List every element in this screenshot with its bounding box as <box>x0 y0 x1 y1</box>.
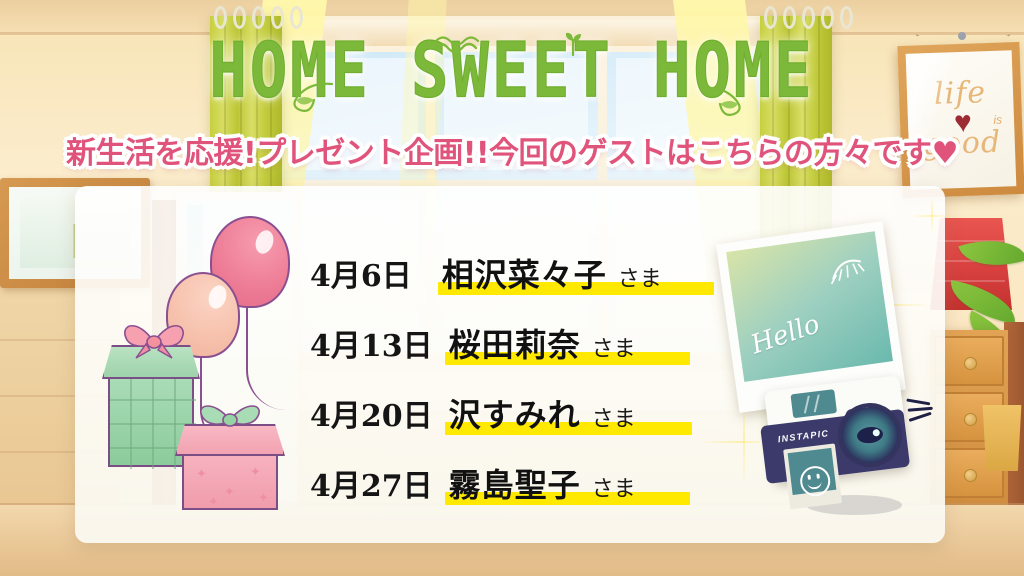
guest-honorific: さま <box>618 261 662 293</box>
guest-date: 4月13日 <box>310 321 433 365</box>
guest-name: 相沢菜々子 <box>442 250 607 296</box>
guest-row: 4月13日 桜田莉奈 さま <box>310 308 730 378</box>
curtain-rings-right <box>764 6 853 26</box>
subtitle-banner: 新生活を応援!プレゼント企画!!今回のゲストはこちらの方々です♥ <box>0 128 1024 172</box>
guest-date: 4月20日 <box>310 391 433 435</box>
green-ribbon-bow-icon <box>190 398 270 438</box>
guest-row: 4月27日 霧島聖子 さま <box>310 448 730 518</box>
leaf-flourish-left-icon <box>288 78 334 112</box>
guest-row: 4月6日 相沢菜々子 さま <box>310 238 730 308</box>
guest-date: 4月6日 <box>310 251 412 295</box>
guest-row: 4月20日 沢すみれ さま <box>310 378 730 448</box>
guest-name: 桜田莉奈 <box>449 320 581 366</box>
guest-list: 4月6日 相沢菜々子 さま 4月13日 桜田莉奈 さま 4月20日 沢すみれ さ… <box>310 238 730 518</box>
leaf-flourish-right-icon <box>700 82 746 116</box>
polaroid-caption: Hello <box>747 309 823 360</box>
guest-honorific: さま <box>592 331 636 363</box>
guest-honorific: さま <box>592 401 636 433</box>
camera-print-photo <box>783 443 842 509</box>
instant-camera: INSTAPIC <box>756 374 920 500</box>
sprout-icon <box>562 30 584 56</box>
curtain-rings-left <box>214 6 303 26</box>
storage-basket <box>980 405 1024 471</box>
slide-canvas: life good is ♥ HOME SWEET HOME 新生活を応援!プレ… <box>0 0 1024 576</box>
flash-lines-icon <box>906 393 937 426</box>
heart-icon: ♥ <box>932 136 958 171</box>
guest-honorific: さま <box>592 471 636 503</box>
smiley-face-icon <box>798 464 831 497</box>
title-block: HOME SWEET HOME <box>0 34 1024 107</box>
guest-name: 霧島聖子 <box>449 460 581 506</box>
sparkle-icon <box>912 196 952 236</box>
sun-doodle-icon <box>818 241 867 287</box>
wall-art-small-word: is <box>993 113 1002 127</box>
guest-name: 沢すみれ <box>449 390 581 436</box>
subtitle-text: 新生活を応援!プレゼント企画!!今回のゲストはこちらの方々です <box>66 128 932 172</box>
squiggle-icon <box>432 36 492 56</box>
pink-ribbon-bow-icon <box>116 316 192 360</box>
guest-date: 4月27日 <box>310 461 433 505</box>
